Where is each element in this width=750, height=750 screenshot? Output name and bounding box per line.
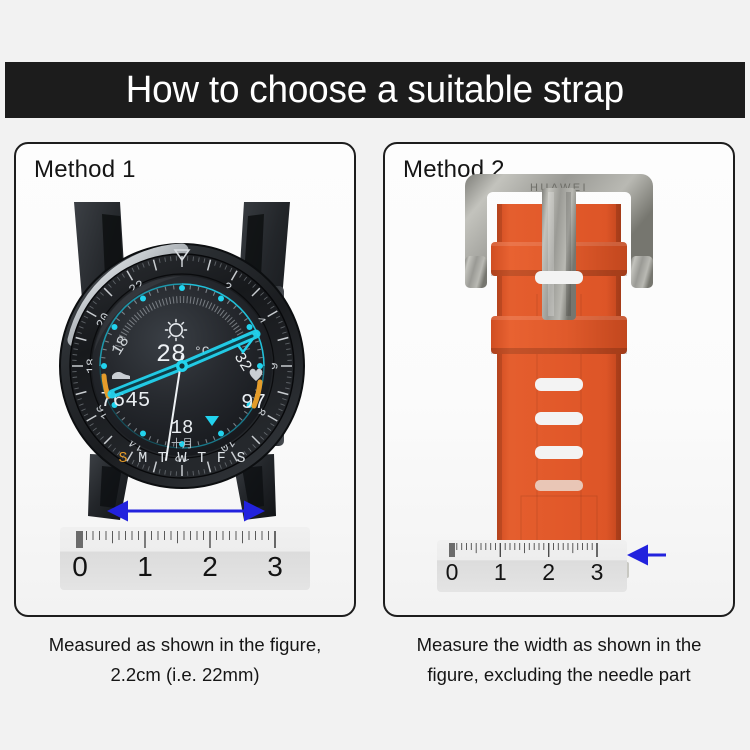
ruler-cursor-method-1 — [76, 531, 83, 548]
page-title: How to choose a suitable strap — [126, 69, 624, 112]
dial-date-month: 十月 — [171, 436, 193, 450]
ruler-label: 0 — [72, 551, 88, 583]
ruler-method-2: 0123 — [437, 540, 627, 592]
caption-method-1-line-1: Measured as shown in the figure, — [14, 630, 356, 660]
ruler-label: 2 — [202, 551, 218, 583]
ruler-label: 1 — [137, 551, 153, 583]
header-banner: How to choose a suitable strap — [5, 62, 745, 118]
caption-method-1-line-2: 2.2cm (i.e. 22mm) — [14, 660, 356, 690]
svg-text:T: T — [197, 450, 206, 467]
ruler-label: 0 — [446, 559, 459, 586]
ruler-method-1: 0123 — [60, 527, 310, 590]
measure-arrow-method-1 — [100, 499, 272, 523]
ruler-label: 1 — [494, 559, 507, 586]
svg-text:W: W — [177, 450, 186, 467]
strap-keeper-lower — [491, 316, 627, 354]
svg-text:F: F — [217, 450, 226, 467]
caption-method-1: Measured as shown in the figure, 2.2cm (… — [14, 630, 356, 690]
ruler-label: 3 — [267, 551, 283, 583]
ruler-cursor-method-2 — [449, 543, 455, 557]
caption-method-2: Measure the width as shown in the figure… — [383, 630, 735, 690]
svg-text:M: M — [138, 450, 147, 467]
ruler-label: 3 — [591, 559, 604, 586]
svg-text:S: S — [118, 450, 127, 467]
caption-method-2-line-2: figure, excluding the needle part — [383, 660, 735, 690]
svg-text:S: S — [236, 450, 245, 467]
caption-method-2-line-1: Measure the width as shown in the — [383, 630, 735, 660]
ruler-label: 2 — [542, 559, 555, 586]
panel-method-2: Method 2 — [383, 142, 735, 617]
dial-date-day: 18 — [171, 417, 194, 439]
panel-method-1: Method 1 — [14, 142, 356, 617]
